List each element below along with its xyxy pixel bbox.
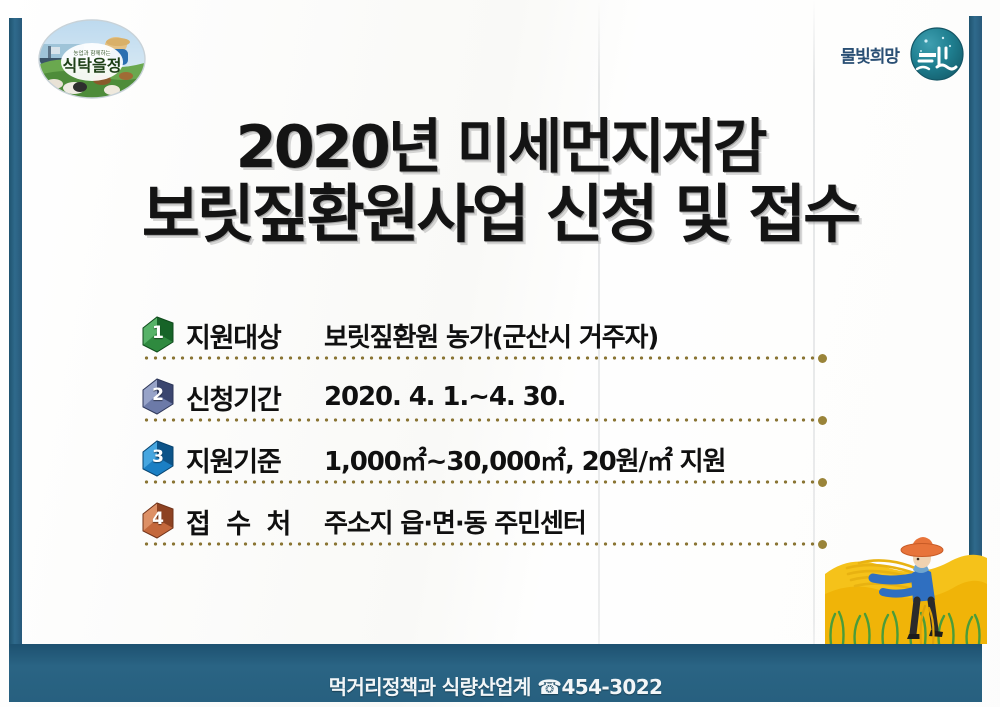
- info-row-label: 지원대상: [186, 316, 324, 355]
- step-badge-4: 4: [140, 501, 182, 541]
- scan-seam-right: [813, 0, 815, 707]
- info-row-label: 접 수 처: [186, 502, 324, 541]
- info-row: 2 신청기간 2020. 4. 1.~4. 30.: [140, 366, 800, 428]
- left-brand-logo: 농업과 함께하는 식탁을정: [36, 18, 148, 100]
- info-list: 1 지원대상 보릿짚환원 농가(군산시 거주자) 2 신청기간 2020. 4.…: [140, 304, 800, 552]
- right-city-logo: 물빛희망: [840, 22, 968, 86]
- info-row: 3 지원기준 1,000㎡~30,000㎡, 20원/㎡ 지원: [140, 428, 800, 490]
- info-row: 4 접 수 처 주소지 읍·면·동 주민센터: [140, 490, 800, 552]
- brand-collage-icon: 농업과 함께하는 식탁을정: [36, 18, 148, 100]
- cube-badge-icon: [140, 377, 182, 417]
- info-row-value: 보릿짚환원 농가(군산시 거주자): [324, 317, 658, 354]
- city-slogan: 물빛희망: [840, 42, 899, 67]
- info-row: 1 지원대상 보릿짚환원 농가(군산시 거주자): [140, 304, 800, 366]
- row-dotted-rule: [142, 542, 818, 546]
- row-dotted-rule: [142, 480, 818, 484]
- poster-root: 농업과 함께하는 식탁을정 물빛희망: [0, 0, 1000, 707]
- row-dotted-rule: [142, 356, 818, 360]
- footer-bar: 먹거리정책과 식량산업계 ☎454-3022: [9, 644, 982, 702]
- poster-title: 2020년 미세먼지저감 보릿짚환원사업 신청 및 접수: [22, 116, 978, 248]
- info-row-label: 신청기간: [186, 378, 324, 417]
- title-line-2: 보릿짚환원사업 신청 및 접수: [22, 182, 978, 248]
- farmer-harvesting-barley-icon: [825, 522, 987, 644]
- info-row-value: 주소지 읍·면·동 주민센터: [324, 503, 586, 540]
- step-badge-1: 1: [140, 315, 182, 355]
- cube-badge-icon: [140, 315, 182, 355]
- info-row-value: 1,000㎡~30,000㎡, 20원/㎡ 지원: [324, 441, 725, 478]
- step-badge-3: 3: [140, 439, 182, 479]
- title-line-1: 2020년 미세먼지저감: [22, 116, 978, 178]
- farmer-illustration: [825, 522, 987, 644]
- gunsan-city-emblem-icon: [906, 24, 968, 84]
- cube-badge-icon: [140, 501, 182, 541]
- footer-contact: 먹거리정책과 식량산업계 ☎454-3022: [9, 671, 982, 700]
- info-row-label: 지원기준: [186, 440, 324, 479]
- frame-left-strip: [9, 18, 22, 644]
- info-row-value: 2020. 4. 1.~4. 30.: [324, 382, 565, 412]
- brand-name: 식탁을정: [63, 56, 122, 75]
- cube-badge-icon: [140, 439, 182, 479]
- row-dotted-rule: [142, 418, 818, 422]
- step-badge-2: 2: [140, 377, 182, 417]
